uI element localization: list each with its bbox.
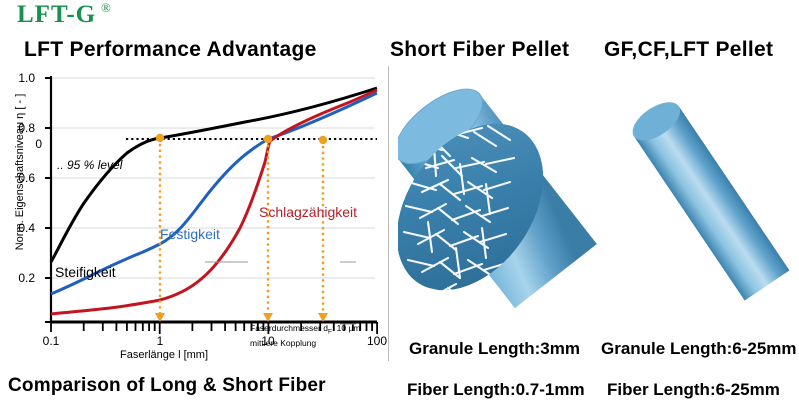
chart-label-95-percent: .. 95 % level xyxy=(57,158,122,172)
panel-divider xyxy=(388,66,389,361)
lft-pellet-illustration xyxy=(620,72,799,334)
chart-series-schlagzaehigkeit xyxy=(51,90,377,314)
caption-short-fiber-length: Fiber Length:0.7-1mm xyxy=(407,380,585,400)
caption-lft-fiber-length: Fiber Length:6-25mm xyxy=(607,380,780,400)
caption-comparison: Comparison of Long & Short Fiber xyxy=(8,375,326,397)
caption-short-granule-length: Granule Length:3mm xyxy=(409,339,580,359)
heading-lft-pellet: GF,CF,LFT Pellet xyxy=(604,38,773,62)
chart-ytick-0.2: 0.2 xyxy=(5,271,35,285)
chart-ytick-0: 0 xyxy=(12,137,42,151)
caption-lft-granule-length: Granule Length:6-25mm xyxy=(601,339,797,359)
chart-xtick-1: 1 xyxy=(140,334,180,348)
brand-name: LFT-G xyxy=(17,1,96,28)
performance-chart: Norm. Eigenschaftsniveau η [ - ] Faserlä… xyxy=(0,66,388,366)
annotation-line1-b: : 10 µm xyxy=(332,323,361,333)
short-fiber-pellet-illustration xyxy=(398,72,598,334)
brand-logo: LFT-G ® xyxy=(17,2,96,28)
heading-short-fiber-pellet: Short Fiber Pellet xyxy=(390,38,569,62)
chart-annotation-note: Faserdurchmesser dF: 10 µm mittlere Kopp… xyxy=(250,323,360,349)
annotation-line1-a: Faserdurchmesser d xyxy=(250,323,328,333)
chart-xtick-100: 100 xyxy=(357,334,397,348)
chart-xtick-0.1: 0.1 xyxy=(31,334,71,348)
chart-ytick-0.6: 0.6 xyxy=(5,171,35,185)
chart-label-festigkeit: Festigkeit xyxy=(160,226,220,242)
chart-label-schlagzaehigkeit: Schlagzähigkeit xyxy=(259,204,357,220)
chart-ytick-0.4: 0.4 xyxy=(5,221,35,235)
chart-leader-lines xyxy=(205,262,356,324)
chart-ytick-0.8: 0.8 xyxy=(5,121,35,135)
heading-performance-advantage: LFT Performance Advantage xyxy=(24,38,317,62)
annotation-line2: mittlere Kopplung xyxy=(250,338,316,348)
registered-mark-icon: ® xyxy=(101,0,111,16)
chart-label-steifigkeit: Steifigkeit xyxy=(55,264,116,280)
chart-ytick-1.0: 1.0 xyxy=(5,71,35,85)
chart-gridlines xyxy=(51,78,375,278)
